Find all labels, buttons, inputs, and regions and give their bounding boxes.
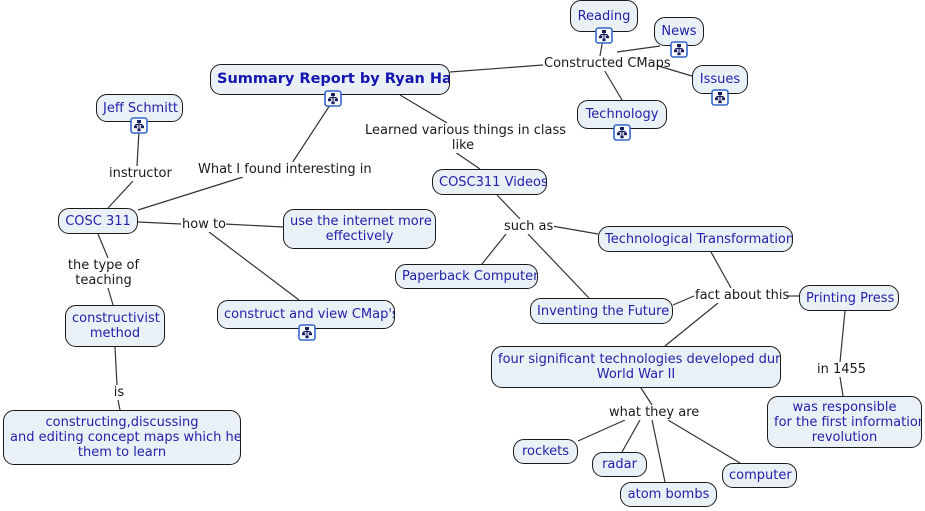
concept-node-label: rockets	[520, 444, 571, 459]
concept-node-label: COSC311 Videos	[439, 175, 540, 190]
concept-node-label: Technological Transformation	[605, 232, 786, 247]
concept-node-label: constructivist method	[72, 311, 158, 341]
link-label-instructor[interactable]: instructor	[108, 166, 168, 181]
cmap-resource-icon[interactable]	[595, 27, 613, 44]
cmap-resource-icon[interactable]	[324, 90, 342, 107]
concept-node-fourtech[interactable]: four significant technologies developed …	[491, 346, 781, 388]
edge-inventing-to-fact-about-this[interactable]	[673, 296, 694, 305]
concept-node-cosc311[interactable]: COSC 311	[58, 208, 138, 234]
concept-node-radar[interactable]: radar	[592, 452, 647, 477]
link-label-fact-about-this[interactable]: fact about this	[694, 288, 786, 303]
concept-node-label: COSC 311	[65, 214, 131, 229]
edge-constructed-cmaps-to-news[interactable]	[617, 46, 660, 52]
concept-node-label: Jeff Schmitt	[103, 101, 176, 116]
concept-node-label: Issues	[699, 72, 741, 87]
edge-cosc311-to-how-to[interactable]	[138, 222, 181, 224]
concept-node-rockets[interactable]: rockets	[513, 439, 578, 464]
edge-such-as-to-inventing[interactable]	[528, 234, 589, 298]
cmap-resource-icon[interactable]	[711, 89, 729, 106]
edge-root-to-constructed-cmaps[interactable]	[450, 65, 543, 72]
edge-is-to-constructing[interactable]	[118, 400, 120, 410]
concept-node-label: Summary Report by Ryan Harrell	[217, 72, 443, 87]
link-label-such-as[interactable]: such as	[503, 219, 554, 234]
edge-learned-various-to-cosc311vid[interactable]	[455, 152, 480, 169]
concept-node-label: was responsible for the first informatio…	[774, 400, 915, 445]
concept-node-atombombs[interactable]: atom bombs	[620, 482, 717, 507]
edge-what-they-are-to-atombombs[interactable]	[652, 420, 665, 482]
concept-node-label: Printing Press	[806, 291, 892, 306]
link-label-how-to[interactable]: how to	[181, 217, 226, 232]
concept-node-label: construct and view CMap's	[224, 307, 388, 322]
link-label-in-1455[interactable]: in 1455	[816, 362, 866, 377]
concept-node-responsible[interactable]: was responsible for the first informatio…	[767, 396, 922, 448]
cmap-resource-icon[interactable]	[130, 117, 148, 134]
concept-node-label: computer	[729, 468, 790, 483]
edge-root-to-learned-various[interactable]	[400, 95, 447, 123]
concept-node-inventing[interactable]: Inventing the Future	[530, 298, 673, 324]
edge-fourtech-to-what-they-are[interactable]	[641, 388, 652, 405]
concept-node-label: Reading	[577, 9, 631, 24]
edge-techtrans-to-fact-about-this[interactable]	[711, 252, 731, 288]
concept-map-canvas[interactable]: Summary Report by Ryan HarrellReadingNew…	[0, 0, 925, 511]
concept-node-constructing[interactable]: constructing,discussing and editing conc…	[3, 410, 241, 465]
edge-instructor-to-cosc311[interactable]	[108, 181, 133, 208]
edge-what-they-are-to-radar[interactable]	[622, 420, 640, 452]
concept-node-cosc311vid[interactable]: COSC311 Videos	[432, 169, 547, 195]
concept-node-label: radar	[599, 457, 640, 472]
link-label-is[interactable]: is	[111, 385, 127, 400]
concept-node-paperback[interactable]: Paperback Computer	[395, 264, 538, 289]
edge-constructed-cmaps-to-technology[interactable]	[603, 68, 622, 100]
edge-in-1455-to-responsible[interactable]	[840, 377, 843, 396]
edge-printing-to-in-1455[interactable]	[840, 311, 845, 362]
concept-node-label: four significant technologies developed …	[498, 352, 774, 382]
edge-cosc311vid-to-such-as[interactable]	[497, 195, 520, 219]
concept-node-label: use the internet more effectively	[290, 214, 429, 244]
edge-what-they-are-to-rockets[interactable]	[578, 420, 625, 441]
concept-node-internet[interactable]: use the internet more effectively	[283, 209, 436, 249]
concept-node-label: constructing,discussing and editing conc…	[10, 415, 234, 460]
edge-what-i-found-to-cosc311[interactable]	[138, 177, 243, 210]
edge-how-to-to-internet[interactable]	[224, 224, 283, 227]
concept-node-label: Paperback Computer	[402, 269, 531, 284]
concept-node-label: News	[661, 24, 697, 39]
edge-cosc311-to-the-type-of[interactable]	[98, 234, 108, 258]
concept-node-printing[interactable]: Printing Press	[799, 285, 899, 311]
concept-node-label: Inventing the Future	[537, 304, 666, 319]
cmap-resource-icon[interactable]	[670, 41, 688, 58]
link-label-learned-various[interactable]: Learned various things in class like	[364, 123, 562, 153]
concept-node-techtrans[interactable]: Technological Transformation	[598, 226, 793, 252]
edge-such-as-to-paperback[interactable]	[482, 234, 506, 264]
link-label-the-type-of[interactable]: the type of teaching	[65, 258, 142, 288]
concept-node-label: atom bombs	[627, 487, 710, 502]
concept-node-computer[interactable]: computer	[722, 463, 797, 488]
edge-constructivist-to-is[interactable]	[115, 347, 117, 385]
edge-what-they-are-to-computer[interactable]	[668, 420, 740, 463]
link-label-what-i-found[interactable]: What I found interesting in	[197, 162, 371, 177]
concept-node-constructivist[interactable]: constructivist method	[65, 305, 165, 347]
edge-such-as-to-techtrans[interactable]	[552, 226, 598, 234]
concept-node-label: Technology	[584, 107, 660, 122]
edge-the-type-of-to-constructivist[interactable]	[108, 288, 113, 305]
cmap-resource-icon[interactable]	[298, 324, 316, 341]
cmap-resource-icon[interactable]	[613, 124, 631, 141]
link-label-constructed-cmaps[interactable]: Constructed CMaps	[543, 56, 657, 71]
link-label-what-they-are[interactable]: what they are	[608, 405, 696, 420]
